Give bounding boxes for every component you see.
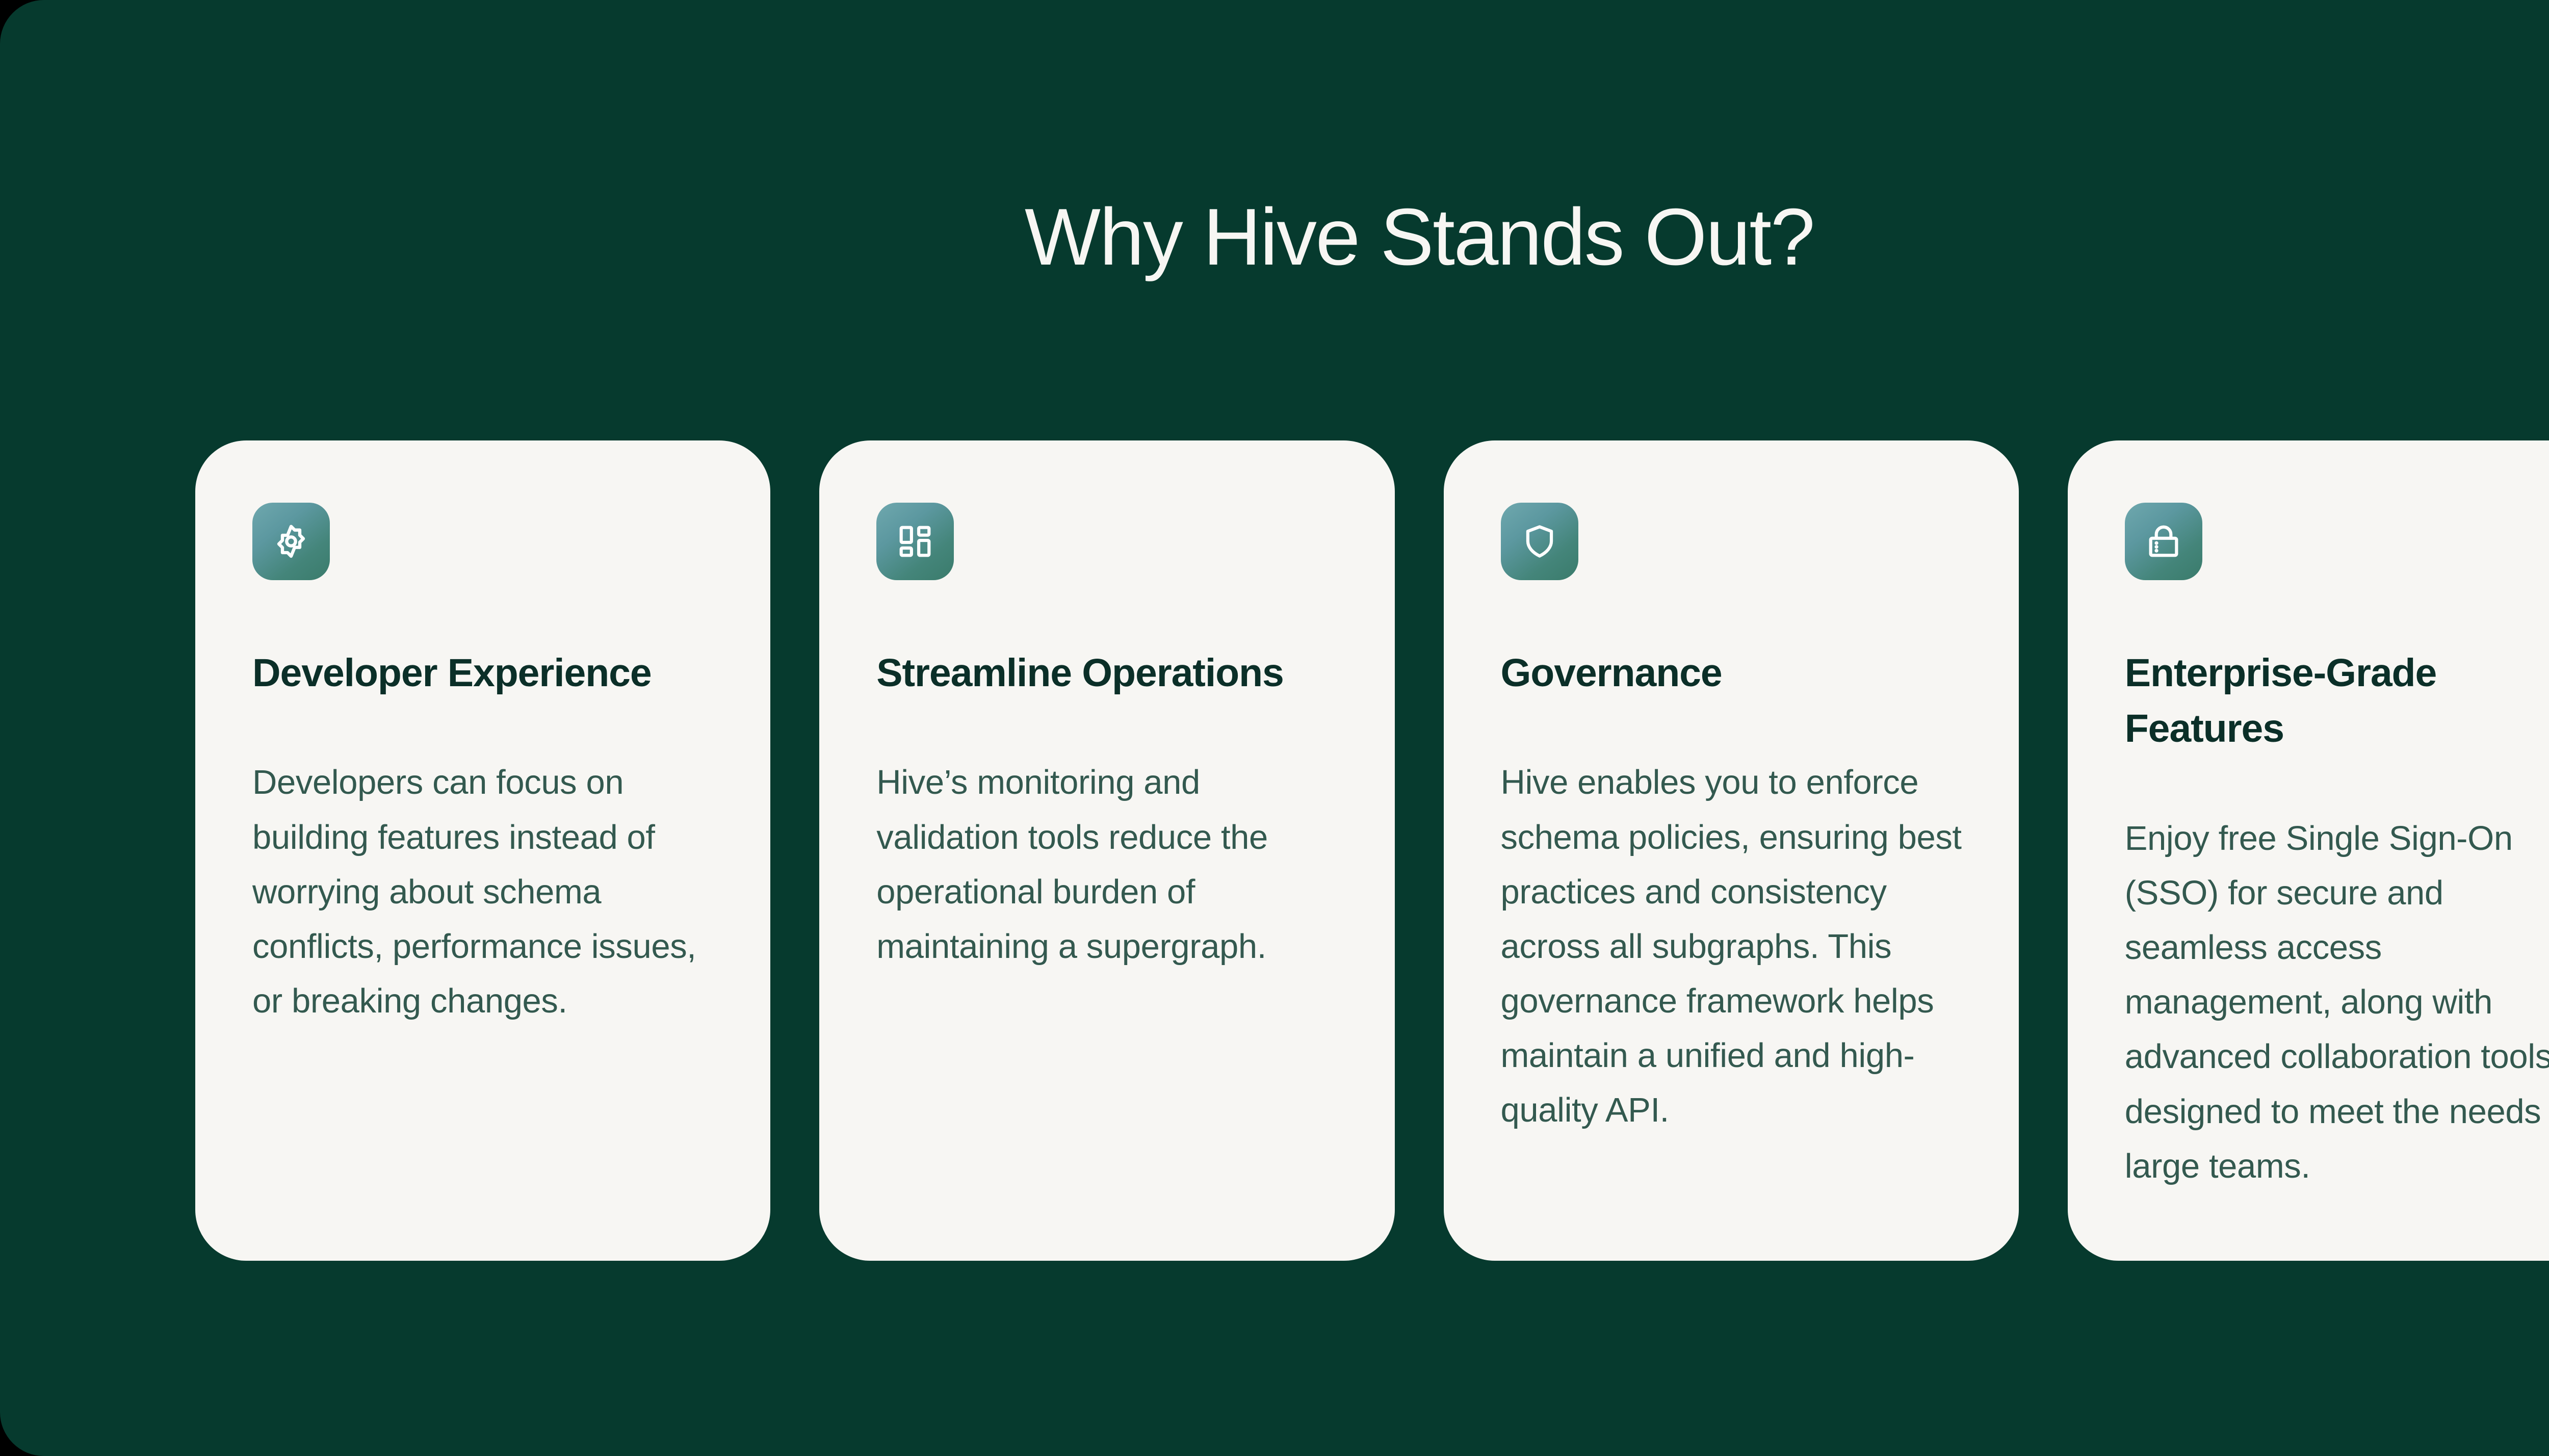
- card-content: Enterprise-Grade Features Enjoy free Sin…: [2068, 503, 2549, 1193]
- card-title: Governance: [1501, 645, 1962, 701]
- page-root: Why Hive Stands Out? Developer Experienc…: [0, 0, 2549, 1456]
- card-content: Streamline Operations Hive’s monitoring …: [819, 503, 1394, 974]
- shield-icon: [1520, 522, 1559, 561]
- card-body: Hive’s monitoring and validation tools r…: [876, 755, 1337, 974]
- card-title: Enterprise-Grade Features: [2125, 645, 2549, 757]
- page-title: Why Hive Stands Out?: [0, 194, 2549, 281]
- feature-card-developer-experience[interactable]: Developer Experience Developers can focu…: [195, 440, 770, 1261]
- gear-icon: [271, 521, 311, 562]
- feature-card-row: Developer Experience Developers can focu…: [195, 440, 2549, 1261]
- icon-tile: [2125, 503, 2202, 580]
- feature-card-streamline-operations[interactable]: Streamline Operations Hive’s monitoring …: [819, 440, 1394, 1261]
- icon-tile: [1501, 503, 1578, 580]
- card-title: Streamline Operations: [876, 645, 1337, 701]
- lock-icon: [2144, 522, 2183, 561]
- card-content: Developer Experience Developers can focu…: [195, 503, 770, 1028]
- dashboard-layout-icon: [895, 522, 935, 561]
- icon-tile: [252, 503, 330, 580]
- card-body: Developers can focus on building feature…: [252, 755, 713, 1028]
- card-body: Enjoy free Single Sign-On (SSO) for secu…: [2125, 811, 2549, 1193]
- card-content: Governance Hive enables you to enforce s…: [1444, 503, 2019, 1138]
- feature-card-governance[interactable]: Governance Hive enables you to enforce s…: [1444, 440, 2019, 1261]
- icon-tile: [876, 503, 954, 580]
- card-body: Hive enables you to enforce schema polic…: [1501, 755, 1962, 1137]
- feature-card-enterprise-grade-features[interactable]: Enterprise-Grade Features Enjoy free Sin…: [2068, 440, 2549, 1261]
- card-title: Developer Experience: [252, 645, 713, 701]
